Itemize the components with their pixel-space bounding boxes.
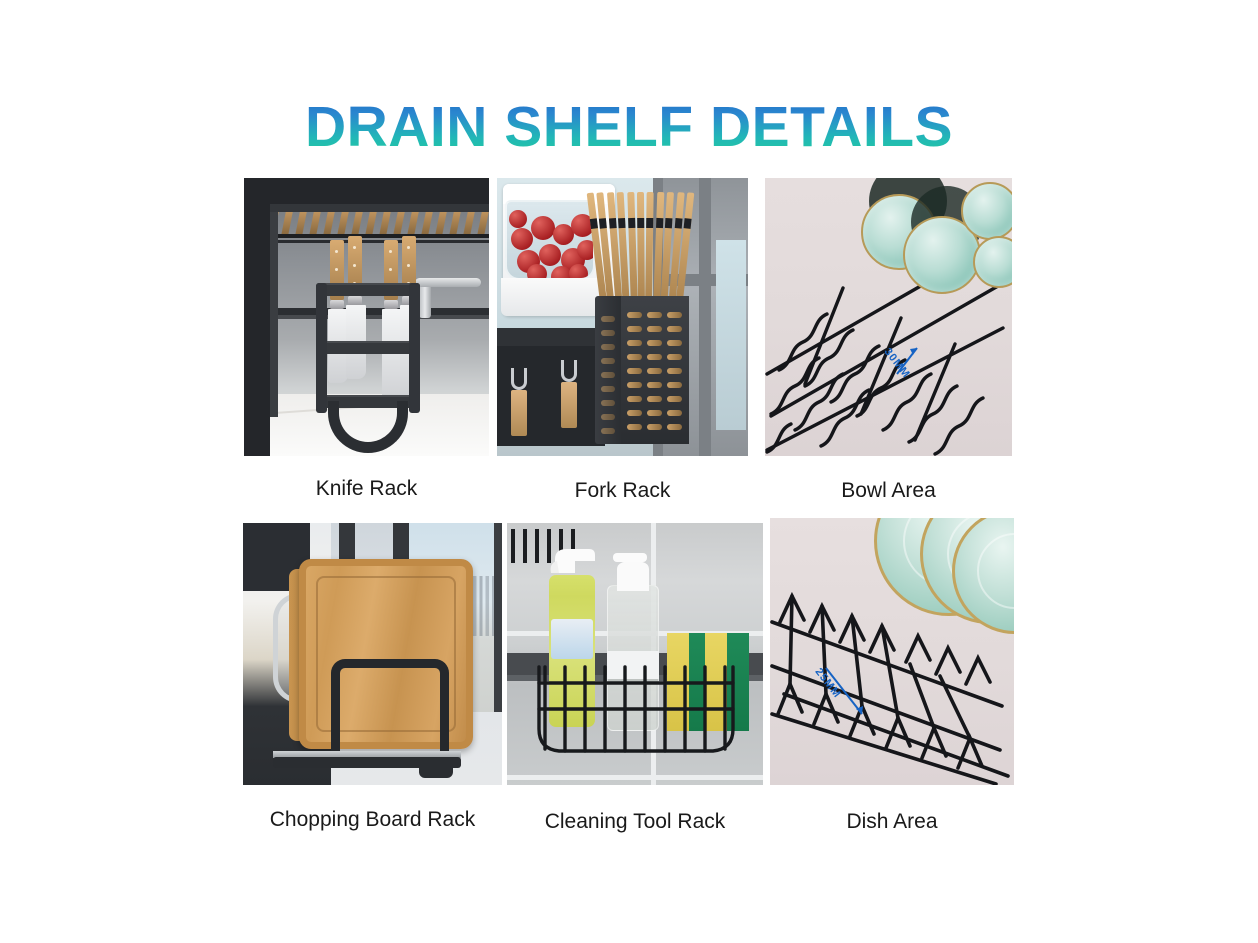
handle-rivet [353,264,356,267]
holder-vent-slot [647,410,662,416]
holder-vent-slot [667,396,682,402]
glass-bowl-of-strawberries [505,200,595,280]
spray-head-shape [545,543,599,581]
hanging-bar-shadow [270,240,489,243]
caption-knife-rack: Knife Rack [244,477,489,501]
faucet-spout [415,278,481,287]
holder-vent-slot [667,382,682,388]
holder-vent-slot-side [601,400,615,406]
dimension-arrow-30mm [765,178,1012,456]
chopsticks-bundle [601,192,685,310]
caddy-rail-top [316,283,420,296]
holder-vent-slot [627,424,642,430]
bowl-area-scene: 30MM [765,178,1012,456]
wood-handle-left [511,390,527,436]
holder-vent-slot-side [601,344,615,350]
caption-dish-area: Dish Area [770,810,1014,834]
cleaning-tool-rack-photo [507,523,763,785]
holder-vent-slot [627,312,642,318]
holder-vent-slot [667,312,682,318]
upper-shelf-frame [244,178,489,204]
chopstick [637,192,645,310]
holder-vent-slot [667,326,682,332]
bowl-area-photo: 30MM [765,178,1012,456]
holder-vent-slot [647,396,662,402]
holder-vent-slot [647,424,662,430]
holder-vent-slot [647,382,662,388]
holder-vent-slot [667,368,682,374]
upper-shelf-frame-edge [244,204,489,212]
shelf-wire [535,529,539,563]
handle-rivet [335,268,338,271]
rack-foot [419,767,453,778]
fork-rack-photo [497,178,748,456]
strawberry [509,210,527,228]
knife-rack-photo: /*filled by JS*/ [244,178,489,456]
holder-vent-slot [647,354,662,360]
hook-left [511,368,527,390]
holder-vent-slot [647,368,662,374]
holder-vent-slot [667,340,682,346]
shelf-wire [511,529,515,563]
holder-vent-slot [627,326,642,332]
holder-vent-slot [667,354,682,360]
holder-vent-slot [627,340,642,346]
window-glass [716,240,746,430]
holder-vent-slot-side [601,428,615,434]
holder-vent-slot [627,396,642,402]
wood-handle-right [561,382,577,428]
hanging-bar [270,234,489,238]
window-mullion-vertical [699,178,711,456]
caption-chopping-board-rack: Chopping Board Rack [243,808,502,832]
dimension-arrow-25mm [770,518,1014,785]
holder-vent-slot-side [601,372,615,378]
rack-front-arm [331,659,449,763]
perforated-utensil-holder [595,296,689,444]
soap-pump-head [607,551,659,591]
product-detail-infographic: DRAIN SHELF DETAILS /*filled by JS*/ [0,0,1258,943]
hook-right [561,360,577,382]
holder-vent-slot [627,368,642,374]
cleaning-tool-scene [507,523,763,785]
holder-vent-slot-side [601,330,615,336]
spray-bottle-label [551,619,593,659]
caddy-rail-middle [316,341,420,354]
handle-rivet [389,250,392,253]
handle-rivet [407,246,410,249]
dish-area-scene: 25MM [770,518,1014,785]
faucet-body [419,282,431,318]
strawberry [511,228,533,250]
strawberry [539,244,561,266]
handle-rivet [407,264,410,267]
holder-vent-slot [627,410,642,416]
strawberry [531,216,555,240]
holder-vent-slot-side [601,386,615,392]
holder-vent-slot [627,382,642,388]
holder-vent-slot [667,424,682,430]
fork-rack-scene [497,178,748,456]
knife-rack-scene: /*filled by JS*/ [244,178,489,456]
caption-cleaning-tool-rack: Cleaning Tool Rack [507,810,763,834]
handle-rivet [353,246,356,249]
basket-wireframe [537,663,737,755]
caddy-side-left [316,283,327,413]
tile-grout-bottom [507,775,763,780]
knife-caddy [316,283,420,413]
holder-vent-slot [667,410,682,416]
caption-fork-rack: Fork Rack [497,479,748,503]
chopping-board-scene [243,523,502,785]
shelf-wire [523,529,527,563]
handle-rivet [389,268,392,271]
caddy-side-right [409,283,420,413]
window-mullion-right [494,523,502,712]
holder-vent-slot [647,326,662,332]
dark-shelf-ledge [497,328,605,346]
page-title: DRAIN SHELF DETAILS [0,96,1258,158]
wire-basket [537,663,737,755]
holder-vent-slot [647,340,662,346]
pump-head-shape [607,551,659,591]
caption-bowl-area: Bowl Area [765,479,1012,503]
chopping-board-rack-photo [243,523,502,785]
left-post [244,178,270,456]
holder-vent-slot-side [601,414,615,420]
holder-vent-slot-side [601,358,615,364]
holder-vent-slot-side [601,316,615,322]
holder-vent-slot [627,354,642,360]
handle-rivet [335,250,338,253]
holder-vent-slot [647,312,662,318]
dish-area-photo: 25MM [770,518,1014,785]
left-post-inner [270,212,278,417]
spray-trigger-head [545,543,599,581]
